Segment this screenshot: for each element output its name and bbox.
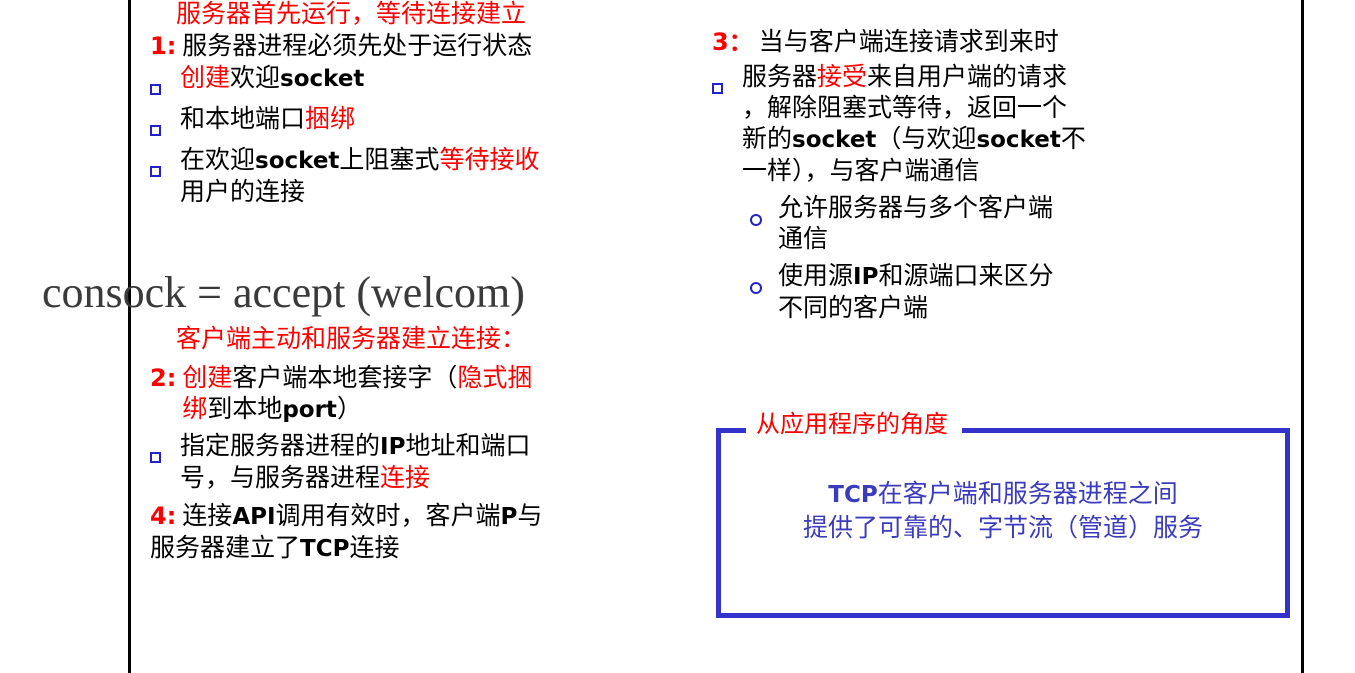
sub-list-item: 使用源IP和源端口来区分不同的客户端 bbox=[750, 261, 1292, 324]
slide-left-rule bbox=[128, 0, 131, 673]
list-item: 服务器接受来自用户端的请求，解除阻塞式等待，返回一个新的socket（与欢迎so… bbox=[712, 62, 1292, 187]
list-item: 在欢迎socket上阻塞式等待接收用户的连接 bbox=[150, 145, 620, 208]
callout-line-1-prefix: TCP bbox=[828, 482, 877, 508]
left-column: 服务器首先运行，等待连接建立 1: 服务器进程必须先处于运行状态 创建欢迎soc… bbox=[150, 0, 620, 208]
step-3-text: 当与客户端连接请求到来时 bbox=[759, 27, 1292, 58]
callout-legend: 从应用程序的角度 bbox=[746, 410, 962, 440]
left-column-lower: 客户端主动和服务器建立连接： 2: 创建客户端本地套接字（隐式捆绑到本地port… bbox=[150, 325, 620, 565]
callout-body: TCP在客户端和服务器进程之间 提供了可靠的、字节流（管道）服务 bbox=[716, 478, 1290, 546]
step-4: 4: 连接API调用有效时，客户端P与 bbox=[150, 501, 620, 533]
left-headline: 服务器首先运行，等待连接建立 bbox=[150, 0, 620, 30]
circle-bullet-icon bbox=[750, 261, 778, 302]
step-2: 2: 创建客户端本地套接字（隐式捆绑到本地port） bbox=[150, 363, 620, 426]
callout-line-2: 提供了可靠的、字节流（管道）服务 bbox=[716, 512, 1290, 546]
sub-list-item-label: 允许服务器与多个客户端通信 bbox=[778, 193, 1292, 255]
sub-list-item-label: 使用源IP和源端口来区分不同的客户端 bbox=[778, 261, 1292, 324]
circle-bullet-icon bbox=[750, 193, 778, 234]
step-4-text: 连接API调用有效时，客户端P与 bbox=[182, 501, 620, 533]
list-item: 和本地端口捆绑 bbox=[150, 104, 620, 144]
step-4-number: 4: bbox=[150, 501, 182, 532]
step-3-number: 3： bbox=[712, 27, 759, 58]
sub-list-item: 允许服务器与多个客户端通信 bbox=[750, 193, 1292, 255]
list-item-label: 在欢迎socket上阻塞式等待接收用户的连接 bbox=[180, 145, 620, 208]
slide-right-rule bbox=[1301, 0, 1304, 673]
step-1-number: 1: bbox=[150, 31, 182, 62]
list-item: 指定服务器进程的IP地址和端口号，与服务器进程连接 bbox=[150, 431, 620, 494]
square-bullet-icon bbox=[150, 431, 180, 471]
step-4-text-cont: 服务器建立了TCP连接 bbox=[150, 533, 620, 565]
left-headline-2: 客户端主动和服务器建立连接： bbox=[150, 325, 620, 355]
step-3: 3： 当与客户端连接请求到来时 bbox=[712, 27, 1292, 58]
callout-line-1-rest: 在客户端和服务器进程之间 bbox=[878, 481, 1178, 508]
step-1: 1: 服务器进程必须先处于运行状态 bbox=[150, 31, 620, 62]
square-bullet-icon bbox=[150, 104, 180, 144]
list-item-label: 指定服务器进程的IP地址和端口号，与服务器进程连接 bbox=[180, 431, 620, 494]
list-item: 创建欢迎socket bbox=[150, 63, 620, 103]
square-bullet-icon bbox=[712, 62, 742, 102]
step-2-text: 创建客户端本地套接字（隐式捆绑到本地port） bbox=[182, 363, 620, 426]
step-2-number: 2: bbox=[150, 363, 182, 394]
square-bullet-icon bbox=[150, 145, 180, 185]
code-line: consock = accept (welcom) bbox=[42, 268, 525, 318]
step-1-text: 服务器进程必须先处于运行状态 bbox=[182, 31, 620, 62]
right-column: 3： 当与客户端连接请求到来时 服务器接受来自用户端的请求，解除阻塞式等待，返回… bbox=[712, 26, 1292, 324]
callout-line-1: TCP在客户端和服务器进程之间 bbox=[716, 478, 1290, 512]
square-bullet-icon bbox=[150, 63, 180, 103]
list-item-label: 创建欢迎socket bbox=[180, 63, 620, 95]
list-item-label: 和本地端口捆绑 bbox=[180, 104, 620, 135]
list-item-label: 服务器接受来自用户端的请求，解除阻塞式等待，返回一个新的socket（与欢迎so… bbox=[742, 62, 1292, 187]
